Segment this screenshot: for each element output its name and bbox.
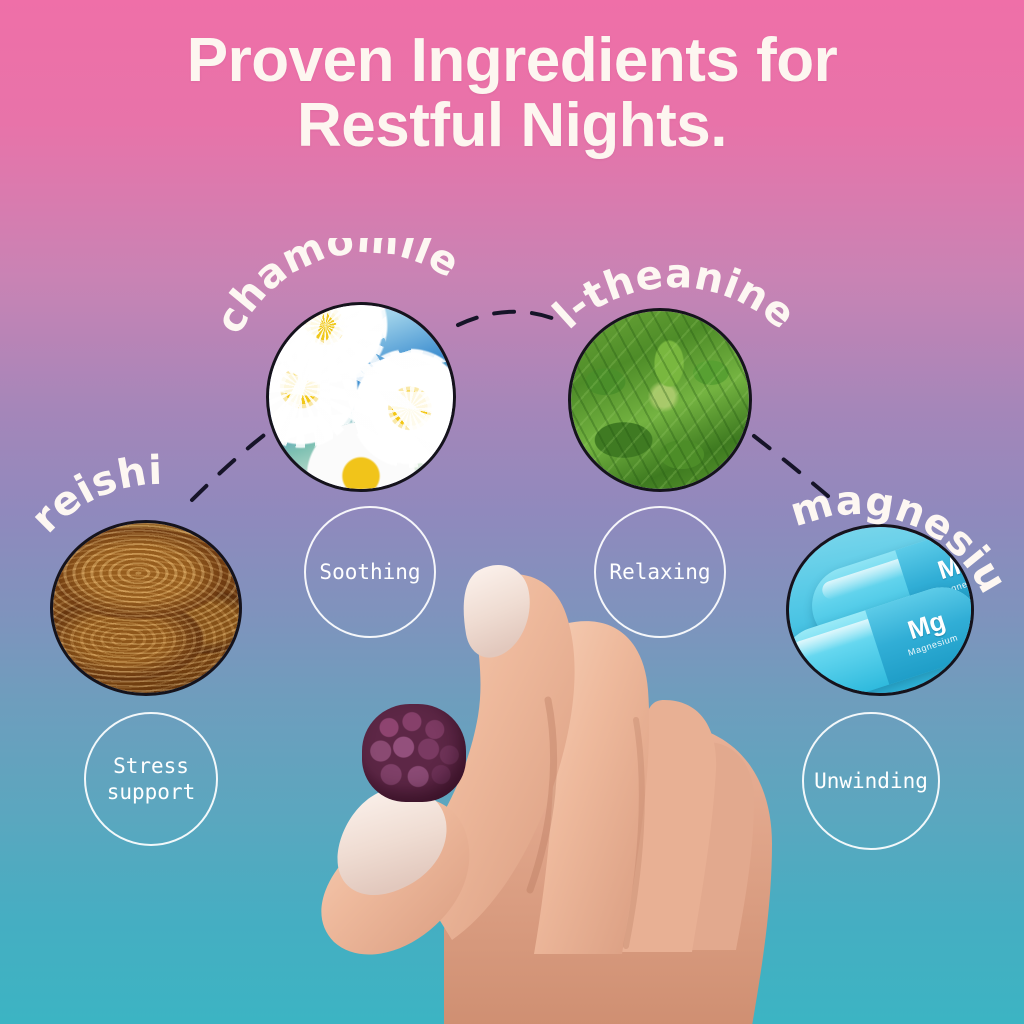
infographic-canvas: Proven Ingredients for Restful Nights. c… [0,0,1024,1024]
gummy-product [362,704,466,802]
hand-holding-gummy [0,0,1024,1024]
